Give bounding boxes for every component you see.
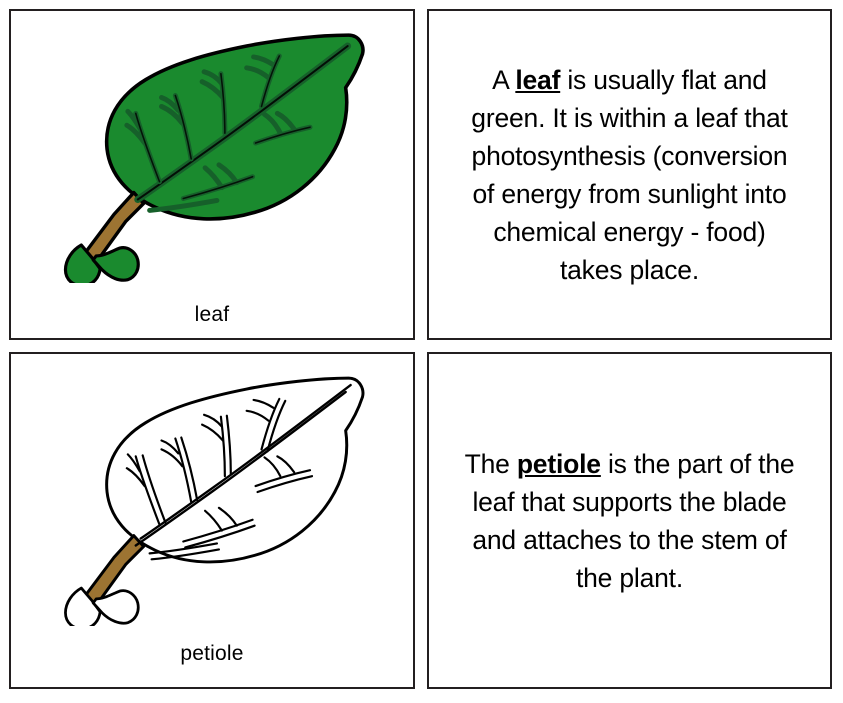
petiole-caption-label: petiole <box>11 642 413 666</box>
petiole-definition-text: The petiole is the part of the leaf that… <box>465 445 795 597</box>
leaf-definition-body: is usually flat and green. It is within … <box>471 65 787 285</box>
leaf-definition-prefix: A <box>492 65 515 95</box>
card-leaf-picture[interactable]: leaf <box>9 9 415 340</box>
petiole-definition-prefix: The <box>465 449 517 479</box>
card-petiole-definition[interactable]: The petiole is the part of the leaf that… <box>427 352 832 689</box>
leaf-term-highlight: leaf <box>515 65 560 95</box>
leaf-caption-label: leaf <box>11 303 413 327</box>
nomenclature-card-sheet: leaf A leaf is usually flat and green. I… <box>0 0 843 703</box>
leaf-definition-text: A leaf is usually flat and green. It is … <box>465 61 795 289</box>
card-leaf-definition[interactable]: A leaf is usually flat and green. It is … <box>427 9 832 340</box>
card-petiole-picture[interactable]: petiole <box>9 352 415 689</box>
petiole-outline-illustration <box>11 358 413 626</box>
leaf-colored-illustration <box>11 15 413 283</box>
petiole-term-highlight: petiole <box>517 449 601 479</box>
